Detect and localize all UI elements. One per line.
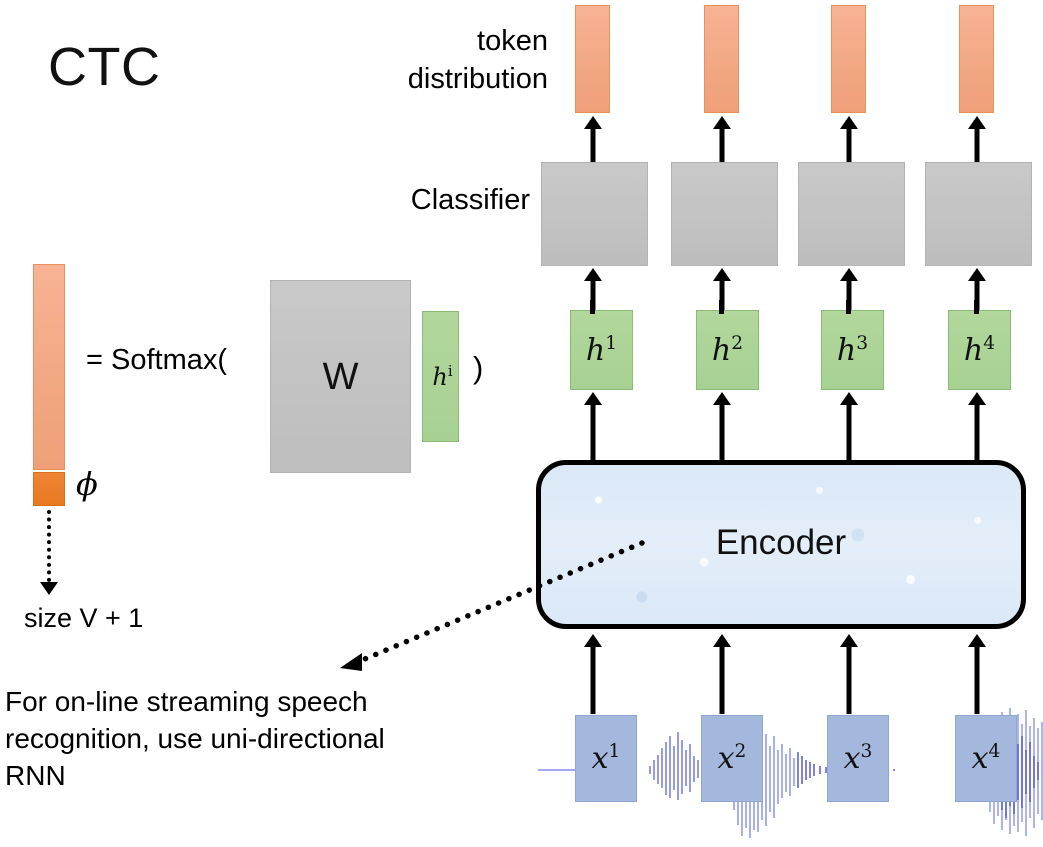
arrow-up-icon	[713, 392, 731, 460]
hidden-state-label-3: h3	[837, 335, 868, 366]
hidden-state-label-4: h4	[964, 335, 995, 366]
blank-token-cell	[33, 472, 65, 506]
connector-line	[590, 300, 595, 314]
token-distribution-bar-2	[704, 5, 739, 113]
input-frame-box-3: x3	[827, 715, 889, 802]
input-frame-box-2: x2	[701, 715, 763, 802]
input-frame-label-4: x4	[972, 743, 1001, 774]
token-distribution-bar-4	[959, 5, 994, 113]
softmax-equation-label: = Softmax(	[86, 346, 227, 375]
blank-symbol-label: ϕ	[76, 468, 98, 500]
hidden-state-box-1: h1	[570, 310, 633, 390]
token-distribution-bar-1	[575, 5, 610, 113]
token-distribution-label: token distribution	[288, 22, 548, 99]
hidden-vector-label: hi	[432, 364, 452, 389]
weight-matrix-label: W	[323, 358, 359, 396]
arrow-up-icon	[584, 116, 602, 162]
dotted-arrow-diagonal-icon	[330, 525, 660, 685]
slide-canvas: CTC token distribution Classifier h1 h2	[0, 0, 1043, 847]
dotted-arrow-down-icon	[40, 582, 58, 595]
classifier-box-1	[541, 162, 648, 266]
input-frame-label-3: x3	[844, 743, 873, 774]
arrow-up-icon	[968, 116, 986, 162]
classifier-label: Classifier	[300, 186, 530, 215]
hidden-state-label-1: h1	[586, 335, 617, 366]
hidden-state-box-2: h2	[696, 310, 759, 390]
closing-paren-label: )	[473, 352, 483, 383]
connector-line	[974, 300, 979, 314]
classifier-box-2	[671, 162, 778, 266]
page-title: CTC	[48, 40, 160, 94]
token-distribution-detail-bar	[33, 264, 65, 470]
note-text: For on-line streaming speech recognition…	[5, 683, 425, 795]
input-frame-label-1: x1	[592, 743, 621, 774]
input-frame-box-4: x4	[955, 715, 1017, 802]
vocab-size-label: size V + 1	[24, 605, 143, 632]
connector-line	[846, 300, 851, 314]
arrow-up-icon	[968, 392, 986, 460]
dotted-arrow-down-icon	[47, 510, 51, 582]
token-distribution-bar-3	[831, 5, 866, 113]
classifier-box-3	[798, 162, 905, 266]
arrow-up-icon	[840, 392, 858, 460]
weight-matrix-box: W	[270, 280, 411, 473]
hidden-state-box-3: h3	[821, 310, 884, 390]
input-frame-label-2: x2	[718, 743, 747, 774]
connector-line	[719, 300, 724, 314]
hidden-state-box-4: h4	[948, 310, 1011, 390]
arrow-up-icon	[584, 392, 602, 460]
encoder-label: Encoder	[716, 523, 846, 563]
hidden-vector-box: hi	[422, 311, 459, 442]
arrow-up-icon	[713, 116, 731, 162]
input-frame-box-1: x1	[575, 715, 637, 802]
hidden-state-label-2: h2	[712, 335, 743, 366]
arrow-up-icon	[840, 116, 858, 162]
classifier-box-4	[925, 162, 1032, 266]
